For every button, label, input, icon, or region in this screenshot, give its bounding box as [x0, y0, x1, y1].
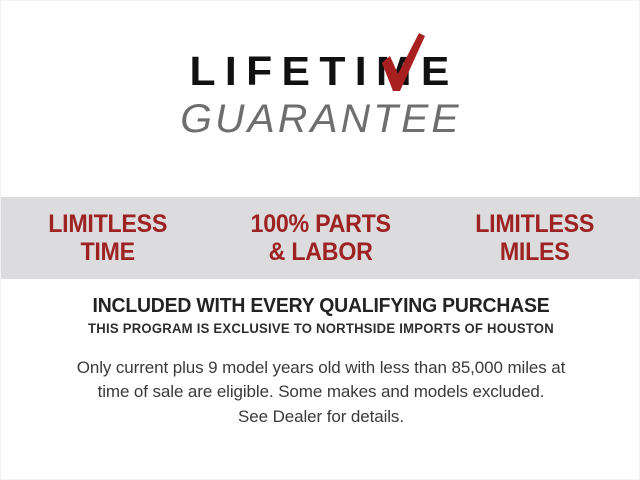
lower-text-block: INCLUDED WITH EVERY QUALIFYING PURCHASE … [1, 295, 640, 430]
feature-column-miles: LIMITLESS MILES [435, 210, 633, 266]
fineprint-line: time of sale are eligible. Some makes an… [31, 380, 611, 405]
fineprint-line: See Dealer for details. [31, 405, 611, 430]
feature-band: LIMITLESS TIME 100% PARTS & LABOR LIMITL… [1, 197, 640, 279]
logo-lifetime-text: LIFETIME [178, 51, 465, 92]
headline: INCLUDED WITH EVERY QUALIFYING PURCHASE [11, 295, 632, 317]
subheadline: THIS PROGRAM IS EXCLUSIVE TO NORTHSIDE I… [11, 322, 632, 337]
logo-lockup: LIFETIME GUARANTEE [183, 51, 459, 139]
fineprint-line: Only current plus 9 model years old with… [31, 356, 611, 381]
logo-guarantee-text: GUARANTEE [180, 99, 461, 139]
feature-line-2: MILES [435, 238, 633, 266]
feature-line-2: & LABOR [222, 238, 420, 266]
fineprint: Only current plus 9 model years old with… [31, 356, 611, 430]
feature-line-1: LIMITLESS [475, 210, 594, 238]
logo-block: LIFETIME GUARANTEE [1, 51, 640, 139]
feature-column-parts-labor: 100% PARTS & LABOR [222, 210, 420, 266]
feature-line-1: LIMITLESS [48, 210, 167, 238]
feature-line-1: 100% PARTS [251, 210, 391, 238]
lifetime-guarantee-ad: LIFETIME GUARANTEE LIMITLESS TIME 100% P… [0, 0, 640, 480]
feature-column-time: LIMITLESS TIME [8, 210, 206, 266]
feature-line-2: TIME [8, 238, 206, 266]
